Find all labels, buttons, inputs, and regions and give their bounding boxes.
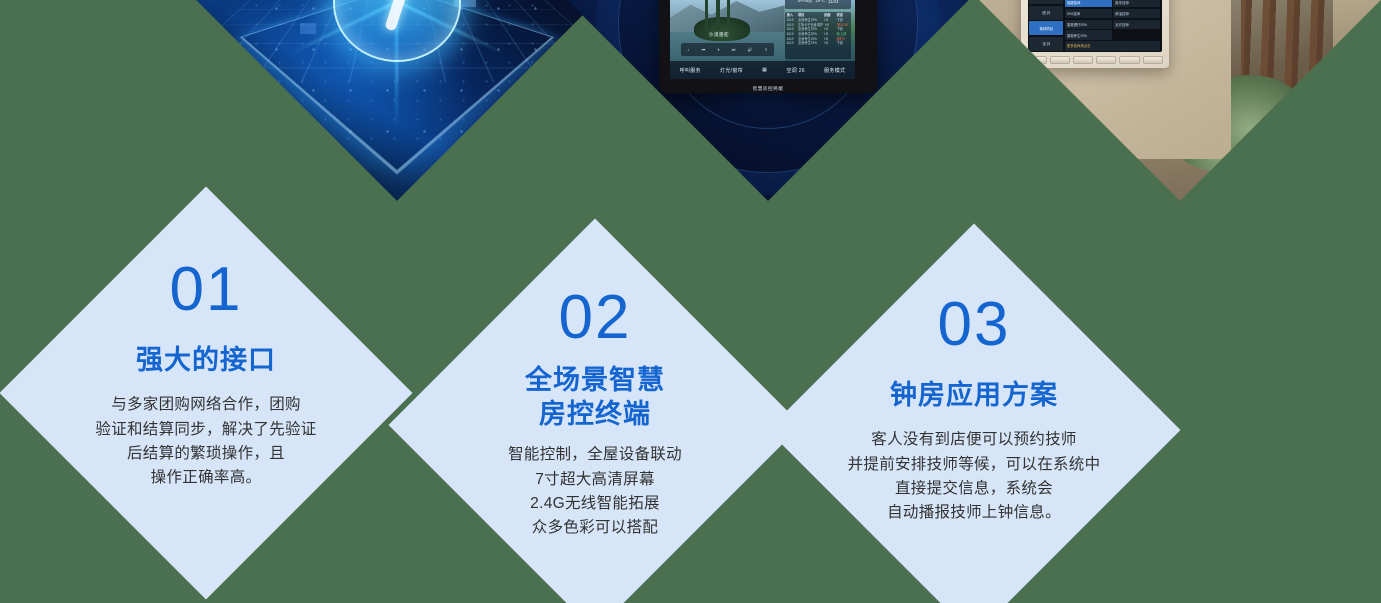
card-2-body: 智能控制，全屋设备联动 7寸超大高清屏幕 2.4G无线智能拓展 众多色彩可以搭配: [508, 443, 682, 541]
service-table: 房入 项目 拍房 状态 8119 全身养生SPA H2 下钟 8119: [785, 12, 852, 59]
panel-right-area[interactable]: 技师选择 项目选择 确认 保健专家技师 正骨技师 保健技师 推拿技师 SPA技师…: [1063, 0, 1160, 51]
panel-left-item[interactable]: CALL钟: [1029, 0, 1063, 4]
btn-call-service[interactable]: 呼叫服务: [680, 67, 701, 74]
panel-left-item[interactable]: 圈 钟: [1029, 6, 1063, 20]
player-icon-list[interactable]: ≡: [765, 47, 767, 52]
panel-menu-item[interactable]: 香薰养生SPA: [1065, 30, 1112, 39]
player-icon-prev[interactable]: ⏮: [702, 47, 706, 52]
card-2-title: 全场景智慧 房控终端: [525, 363, 665, 431]
wallpaper-tree: [727, 0, 730, 30]
panel-button[interactable]: [1073, 56, 1093, 64]
panel-menu-item[interactable]: SPA技师: [1065, 9, 1112, 18]
panel-left-item[interactable]: 选 钟: [1029, 37, 1063, 51]
card-1-image: [196, 0, 598, 201]
tablet-footer: 智慧房控终端: [659, 86, 877, 92]
card-1-body: 与多家团购网络合作，团购 验证和结算同步，解决了先验证 后结算的繁琐操作，且 操…: [95, 393, 316, 491]
wall-control-panel[interactable]: 点 钟 CALL钟 圈 钟 换钟项目 选 钟 技师选择 项目选择 确认: [1021, 0, 1169, 68]
apps-grid-icon[interactable]: ▦: [762, 67, 767, 73]
panel-left-item-active[interactable]: 换钟项目: [1029, 21, 1063, 35]
panel-menu-grid[interactable]: 保健专家技师 正骨技师 保健技师 推拿技师 SPA技师 精油技师 香薰理疗SPA…: [1065, 0, 1160, 51]
panel-button[interactable]: [1027, 56, 1047, 64]
btn-light-curtain[interactable]: 灯光/窗帘: [720, 67, 743, 74]
panel-button[interactable]: [1096, 56, 1116, 64]
player-icon-play[interactable]: ⏸: [717, 47, 719, 52]
panel-screen[interactable]: 点 钟 CALL钟 圈 钟 换钟项目 选 钟 技师选择 项目选择 确认: [1028, 0, 1162, 52]
table-row: 8119 全身养生SPA H2 下钟: [787, 41, 850, 46]
tablet-footer-logo: 智慧房控终端: [753, 86, 784, 92]
tablet-screen[interactable]: 沙漠骆驼 ♪ ⏮ ⏸ ⏭ 🔊 ≡ 22:35 SPA6房 19℃: [670, 0, 855, 79]
card-1-panel: 01 强大的接口 与多家团购网络合作，团购 验证和结算同步，解决了先验证 后结算…: [0, 187, 412, 600]
room-label: SPA6房: [798, 0, 813, 4]
clock-widget: 22:35 SPA6房 19℃ 11/24: [785, 0, 852, 9]
panel-menu-item-active[interactable]: 保健技师: [1065, 0, 1112, 7]
temperature-label: 19℃: [815, 0, 825, 4]
card-2-panel: 02 全场景智慧 房控终端 智能控制，全屋设备联动 7寸超大高清屏幕 2.4G无…: [389, 219, 802, 603]
clock-subinfo: SPA6房 19℃ 11/24: [798, 0, 839, 4]
card-3-image: 点 钟 CALL钟 圈 钟 换钟项目 选 钟 技师选择 项目选择 确认: [979, 0, 1381, 201]
panel-menu-item[interactable]: 足疗技师: [1113, 20, 1160, 29]
panel-menu-item[interactable]: 精油技师: [1113, 9, 1160, 18]
card-3-panel: 03 钟房应用方案 客人没有到店便可以预约技师 并提前安排技师等候，可以在系统中…: [768, 224, 1181, 603]
card-2-image: CSIZBO 沙漠骆驼 ♪ ⏮ ⏸: [567, 0, 969, 201]
panel-button[interactable]: [1143, 56, 1163, 64]
date-label: 11/24: [828, 0, 838, 4]
panel-menu-item[interactable]: 香薰理疗SPA: [1065, 20, 1112, 29]
btn-air-conditioner[interactable]: 空调 26: [786, 67, 804, 74]
player-icon-note[interactable]: ♪: [687, 47, 689, 52]
room-control-tablet: CSIZBO 沙漠骆驼 ♪ ⏮ ⏸: [659, 0, 877, 93]
song-title: 沙漠骆驼: [709, 32, 729, 38]
card-3-title: 钟房应用方案: [890, 378, 1058, 412]
wallpaper-tree: [716, 0, 720, 31]
panel-hardware-buttons[interactable]: [1027, 55, 1163, 65]
btn-service-mode[interactable]: 服务模式: [824, 67, 845, 74]
player-icon-next[interactable]: ⏭: [732, 47, 736, 52]
tablet-bottom-bar[interactable]: 呼叫服务 灯光/窗帘 ▦ 空调 26 服务模式: [670, 61, 855, 79]
panel-menu-item[interactable]: 推拿技师: [1113, 0, 1160, 7]
card-2-number: 02: [559, 287, 632, 349]
panel-left-menu[interactable]: 点 钟 CALL钟 圈 钟 换钟项目 选 钟: [1029, 0, 1063, 51]
card-3-number: 03: [938, 294, 1011, 356]
card-1-number: 01: [170, 259, 243, 321]
music-player-controls[interactable]: ♪ ⏮ ⏸ ⏭ 🔊 ≡: [681, 43, 774, 56]
panel-button[interactable]: [1050, 56, 1070, 64]
banner-root: 01 强大的接口 与多家团购网络合作，团购 验证和结算同步，解决了先验证 后结算…: [0, 0, 1381, 603]
card-1-title: 强大的接口: [136, 343, 276, 377]
wallpaper-tree: [705, 0, 708, 30]
card-3-body: 客人没有到店便可以预约技师 并提前安排技师等候，可以在系统中 直接提交信息，系统…: [848, 428, 1101, 526]
player-icon-volume[interactable]: 🔊: [748, 47, 753, 52]
panel-button[interactable]: [1119, 56, 1139, 64]
panel-menu-item-more[interactable]: 更多技师请点击: [1065, 41, 1160, 50]
